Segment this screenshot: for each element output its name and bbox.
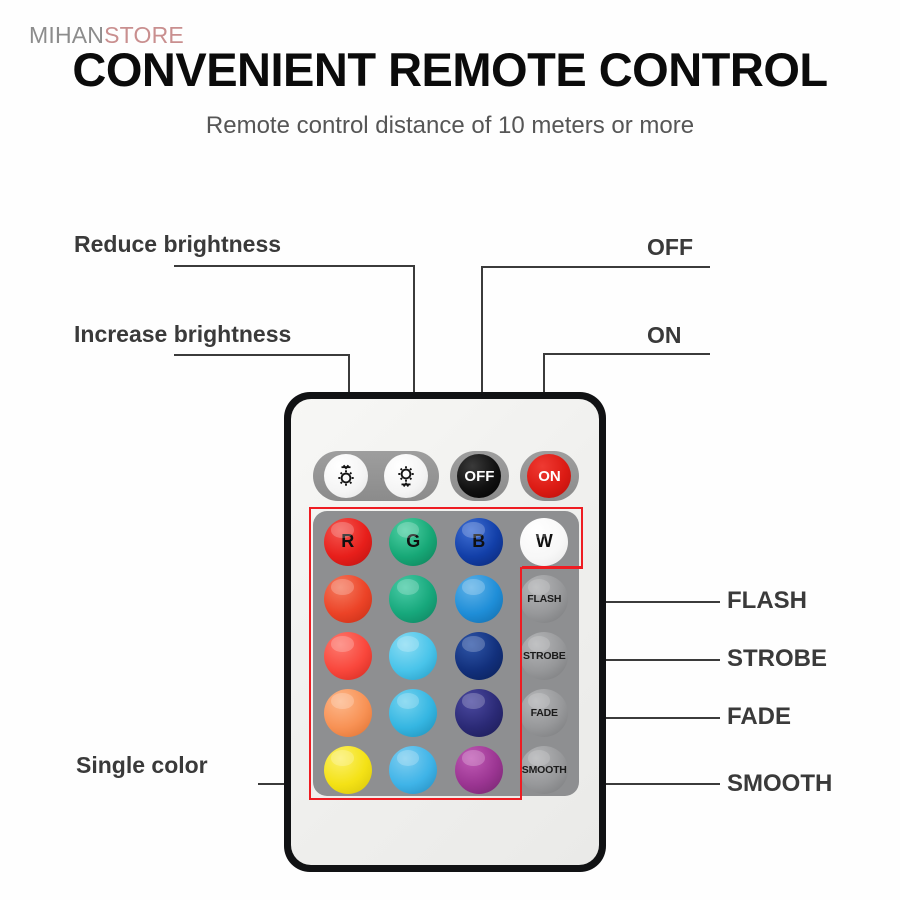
callout-strobe: STROBE bbox=[727, 645, 827, 673]
color-button-cyan[interactable] bbox=[389, 689, 437, 737]
color-button-r[interactable]: R bbox=[324, 518, 372, 566]
color-button-coral[interactable] bbox=[324, 632, 372, 680]
leader-line-on-horizontal bbox=[543, 353, 710, 355]
color-button-yellow[interactable] bbox=[324, 746, 372, 794]
strobe-button[interactable]: STROBE bbox=[520, 632, 568, 680]
color-button-b[interactable]: B bbox=[455, 518, 503, 566]
color-button-g[interactable]: G bbox=[389, 518, 437, 566]
color-button-green[interactable] bbox=[389, 575, 437, 623]
highlight-box-join bbox=[522, 566, 583, 569]
color-button-navy[interactable] bbox=[455, 632, 503, 680]
color-button-light-blue[interactable] bbox=[389, 746, 437, 794]
callout-single-color: Single color bbox=[76, 752, 208, 779]
callout-off: OFF bbox=[647, 234, 693, 261]
callout-fade: FADE bbox=[727, 703, 791, 731]
page-title: CONVENIENT REMOTE CONTROL bbox=[0, 42, 900, 97]
leader-line-increase-brightness-horizontal bbox=[174, 354, 349, 356]
on-button[interactable]: ON bbox=[527, 454, 571, 498]
callout-smooth: SMOOTH bbox=[727, 770, 832, 798]
remote-control-device: OFF ON R G B W FLASH bbox=[284, 392, 606, 872]
top-button-strip: OFF ON bbox=[313, 451, 579, 501]
off-button[interactable]: OFF bbox=[457, 454, 501, 498]
increase-brightness-button[interactable] bbox=[384, 454, 428, 498]
leader-line-off-horizontal bbox=[481, 266, 710, 268]
reduce-brightness-button[interactable] bbox=[324, 454, 368, 498]
color-button-indigo[interactable] bbox=[455, 689, 503, 737]
brightness-pill bbox=[313, 451, 439, 501]
sun-down-icon bbox=[332, 462, 360, 490]
color-button-light-cyan[interactable] bbox=[389, 632, 437, 680]
callout-on: ON bbox=[647, 322, 682, 349]
color-button-medium-blue[interactable] bbox=[455, 575, 503, 623]
callout-reduce-brightness: Reduce brightness bbox=[74, 231, 281, 258]
sun-up-icon bbox=[392, 462, 420, 490]
fade-button[interactable]: FADE bbox=[520, 689, 568, 737]
infographic-canvas: MIHANSTORE CONVENIENT REMOTE CONTROL Rem… bbox=[0, 0, 900, 900]
remote-faceplate: OFF ON R G B W FLASH bbox=[291, 399, 599, 865]
flash-button[interactable]: FLASH bbox=[520, 575, 568, 623]
color-button-purple[interactable] bbox=[455, 746, 503, 794]
button-grid: R G B W FLASH STROBE FADE bbox=[315, 513, 577, 798]
color-button-orange[interactable] bbox=[324, 689, 372, 737]
leader-line-reduce-brightness-horizontal bbox=[174, 265, 414, 267]
on-pill: ON bbox=[520, 451, 579, 501]
callout-increase-brightness: Increase brightness bbox=[74, 321, 291, 348]
color-button-w[interactable]: W bbox=[520, 518, 568, 566]
smooth-button[interactable]: SMOOTH bbox=[520, 746, 568, 794]
off-pill: OFF bbox=[450, 451, 509, 501]
callout-flash: FLASH bbox=[727, 587, 807, 615]
page-subtitle: Remote control distance of 10 meters or … bbox=[0, 112, 900, 140]
color-button-red-orange[interactable] bbox=[324, 575, 372, 623]
